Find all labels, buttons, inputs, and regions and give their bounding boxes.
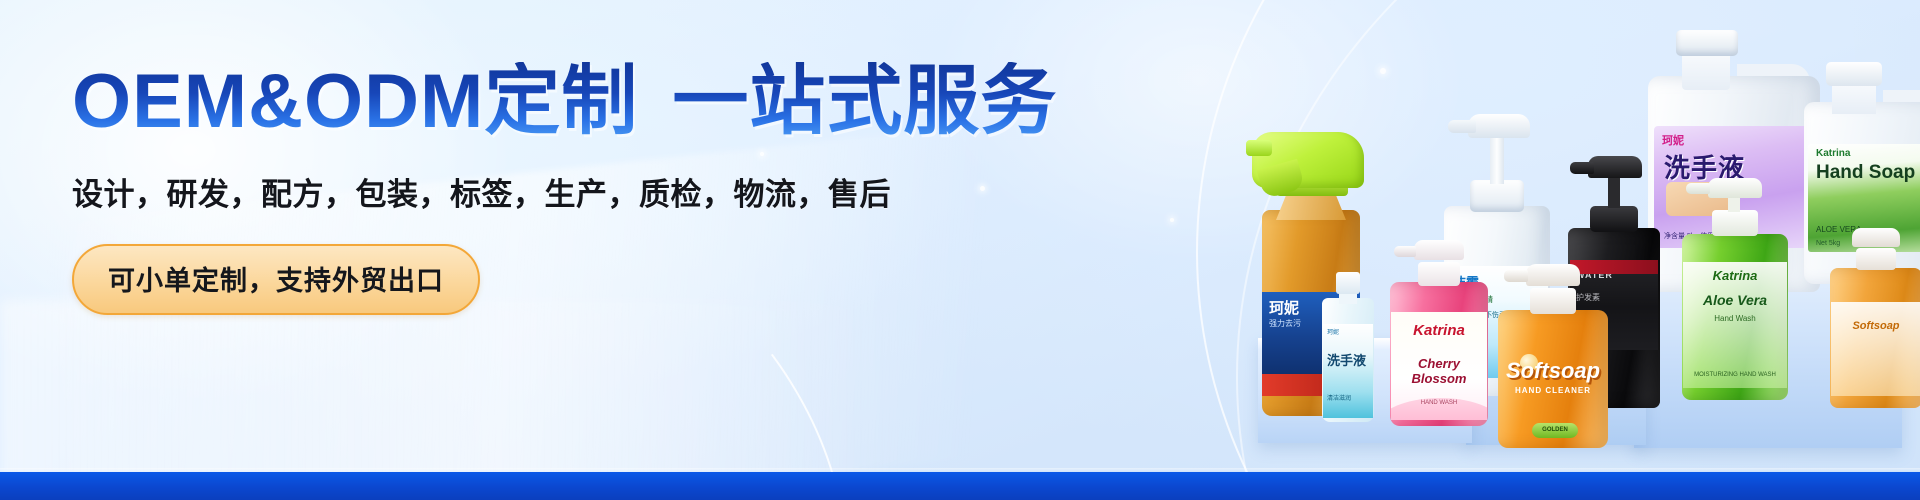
orange-brand: Softsoap bbox=[1498, 358, 1608, 384]
orange-back-brand: Softsoap bbox=[1831, 320, 1920, 332]
mini-title: 洗手液 bbox=[1327, 350, 1366, 369]
headline-part-1: OEM&ODM定制 bbox=[72, 59, 638, 144]
jug-brand: 珂妮 bbox=[1662, 132, 1684, 148]
product-showcase: 珂妮 洗手液 净含量 5kg 使用方法 注意事项 Katrina Hand So… bbox=[1230, 0, 1920, 475]
black-pump-spout bbox=[1570, 162, 1594, 174]
mini-brand: 珂妮 bbox=[1327, 327, 1339, 336]
black-pump-stem bbox=[1608, 174, 1620, 208]
black-pump-head bbox=[1588, 156, 1642, 178]
orange-badge-label: GOLDEN bbox=[1532, 423, 1578, 438]
custom-order-badge[interactable]: 可小单定制，支持外贸出口 bbox=[72, 244, 480, 315]
orange-back-head bbox=[1852, 228, 1900, 247]
banner-subtitle: 设计，研发，配方，包装，标签，生产，质检，物流，售后 bbox=[72, 169, 1032, 214]
white-pump-collar bbox=[1470, 180, 1524, 212]
pink-sub: HAND WASH bbox=[1391, 400, 1487, 406]
pink-brand: Katrina bbox=[1391, 322, 1487, 339]
spray-brand: 珂妮 bbox=[1269, 297, 1299, 318]
green-sub: Hand Wash bbox=[1683, 314, 1787, 323]
pink-collar bbox=[1418, 262, 1460, 286]
green-label: Katrina Aloe Vera Hand Wash MOISTURIZING… bbox=[1683, 262, 1787, 388]
page-title: OEM&ODM定制一站式服务 bbox=[72, 62, 1057, 143]
orange-back-collar bbox=[1856, 248, 1896, 270]
mini-sub: 清洁滋润 bbox=[1327, 393, 1351, 402]
green-fine: MOISTURIZING HAND WASH bbox=[1683, 372, 1787, 378]
promo-banner: OEM&ODM定制一站式服务 设计，研发，配方，包装，标签，生产，质检，物流，售… bbox=[0, 0, 1920, 500]
pink-label: Katrina Cherry Blossom HAND WASH bbox=[1391, 312, 1487, 420]
orange-back-label: Softsoap bbox=[1831, 302, 1920, 396]
green-pump-head bbox=[1708, 178, 1762, 198]
mini-cap bbox=[1336, 272, 1360, 294]
product-mini-sanitizer: 珂妮 洗手液 清洁滋润 bbox=[1322, 272, 1374, 422]
orange-spout bbox=[1504, 270, 1528, 282]
jug2-brand: Katrina bbox=[1816, 148, 1850, 159]
green-collar bbox=[1712, 210, 1758, 236]
headline-part-2: 一站式服务 bbox=[672, 59, 1057, 144]
spray-nozzle bbox=[1246, 140, 1272, 156]
product-pink-handwash: Katrina Cherry Blossom HAND WASH bbox=[1390, 238, 1488, 426]
green-brand: Katrina bbox=[1683, 268, 1787, 283]
orange-pump-head bbox=[1526, 264, 1580, 286]
green-spout bbox=[1686, 183, 1710, 194]
pink-pump-head bbox=[1414, 240, 1464, 260]
white-pump-spout bbox=[1448, 120, 1476, 133]
product-green-aloe: Katrina Aloe Vera Hand Wash MOISTURIZING… bbox=[1682, 178, 1788, 400]
bottom-accent-bar bbox=[0, 472, 1920, 500]
white-pump-head bbox=[1468, 114, 1530, 138]
white-pump-stem bbox=[1490, 136, 1504, 184]
jug2-title: Hand Soap bbox=[1816, 162, 1915, 184]
black-pump-collar bbox=[1590, 206, 1638, 232]
pink-spout bbox=[1394, 246, 1416, 257]
orange-sub: HAND CLEANER bbox=[1498, 386, 1608, 395]
orange-collar bbox=[1530, 288, 1576, 314]
jug-cap bbox=[1676, 30, 1738, 56]
pink-flavor: Cherry Blossom bbox=[1391, 356, 1487, 386]
sparkle-icon bbox=[1170, 218, 1174, 222]
jug2-cap bbox=[1826, 62, 1882, 86]
product-orange-pump-back: Softsoap bbox=[1830, 228, 1920, 408]
green-flavor: Aloe Vera bbox=[1683, 292, 1787, 308]
banner-copy: OEM&ODM定制一站式服务 设计，研发，配方，包装，标签，生产，质检，物流，售… bbox=[72, 62, 1032, 315]
orange-badge: GOLDEN bbox=[1532, 423, 1578, 438]
spray-sub: 强力去污 bbox=[1269, 318, 1301, 329]
product-orange-softsoap: Softsoap HAND CLEANER GOLDEN bbox=[1498, 262, 1608, 448]
mini-label: 珂妮 洗手液 清洁滋润 bbox=[1323, 324, 1373, 418]
